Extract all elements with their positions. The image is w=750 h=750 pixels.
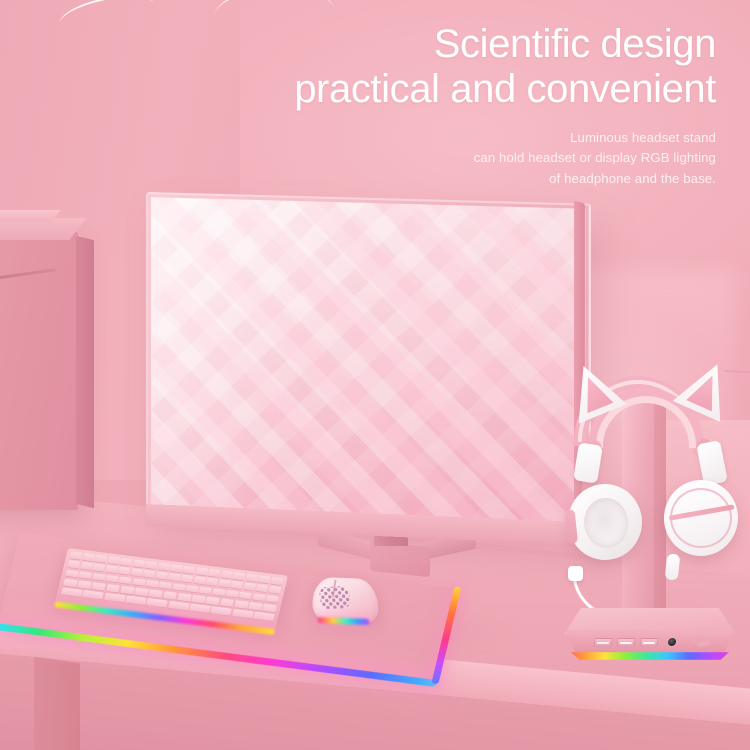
keyboard-key [145, 580, 159, 589]
keyboard-key [148, 589, 163, 598]
keyboard-key [92, 582, 107, 591]
keyboard-key [130, 568, 143, 577]
keyboard-key [80, 562, 93, 571]
keyboard-key [208, 569, 221, 578]
keyboard-key [63, 578, 78, 587]
microphone-capsule [568, 566, 583, 581]
keyboard-key [256, 584, 269, 593]
keyboard-key [212, 588, 226, 597]
keyboard-key [92, 573, 106, 582]
keyboard-key [191, 595, 206, 604]
keyboard-key [225, 590, 239, 599]
product-banner: Scientific design practical and convenie… [0, 0, 750, 750]
screen-sheen [151, 197, 585, 532]
monitor-stand-hub [370, 541, 430, 577]
keyboard-key [206, 578, 219, 587]
keyboard-key [270, 577, 283, 586]
keyboard-key [245, 574, 258, 583]
headset-stand [548, 358, 744, 658]
audio-jack-icon[interactable] [666, 637, 677, 647]
keyboard-key [243, 583, 256, 592]
keyboard-key [168, 573, 181, 582]
keyboard-key [239, 591, 253, 600]
keyboard-key [233, 572, 246, 581]
keyboard-key [172, 583, 186, 592]
cat-ear-headset [554, 358, 740, 608]
keyboard-key [105, 565, 118, 574]
keyboard-key [159, 581, 173, 590]
keyboard-key [252, 593, 266, 602]
keyboard-key [77, 580, 92, 589]
keyboard-key [265, 595, 279, 604]
keyboard-key [262, 604, 277, 613]
keyboard-key [118, 567, 131, 576]
keyboard-key [82, 553, 95, 562]
keyboard-key [205, 596, 220, 605]
keyboard-key [248, 602, 263, 611]
pc-tower-top-lip [0, 210, 61, 222]
keyboard-key [218, 579, 231, 588]
base-rgb-light-strip [562, 652, 738, 660]
base-port-cluster [593, 634, 681, 650]
keyboard-key [195, 567, 208, 576]
keyboard-key [95, 555, 108, 564]
keyboard-key [258, 575, 271, 584]
keyboard-key [199, 586, 213, 595]
keyboard-key [220, 598, 235, 607]
keyboard-key [163, 591, 178, 600]
headset-slider-left [573, 442, 603, 483]
mouse-honeycomb-vents [318, 586, 351, 610]
keyboard-key [107, 556, 120, 565]
keyboard-key [132, 559, 145, 568]
keyboard-key [185, 585, 199, 594]
keyboard-key [65, 569, 79, 578]
keyboard-key [268, 586, 281, 595]
keyboard-key [79, 571, 93, 580]
monitor-bezel [146, 192, 591, 538]
keyboard-key [157, 563, 170, 572]
gaming-mouse [311, 577, 380, 624]
usb-port[interactable] [594, 638, 613, 647]
keyboard-key [120, 558, 133, 567]
keyboard-key [220, 570, 233, 579]
usb-port[interactable] [617, 638, 636, 647]
keyboard-key [143, 570, 156, 579]
keyboard-key [155, 572, 168, 581]
keyboard-key [234, 600, 249, 609]
keyboard-key [67, 560, 80, 569]
keyboard-key [119, 576, 133, 585]
pc-tower [0, 232, 78, 510]
keyboard-key [120, 586, 135, 595]
keyboard-key [170, 564, 183, 573]
keyboard-key [105, 575, 119, 584]
keyboard-key [132, 578, 146, 587]
pc-tower-side [76, 236, 94, 508]
stand-usb-hub-base [554, 608, 744, 660]
keyboard-key [134, 587, 149, 596]
keyboard-key [106, 584, 121, 593]
keyboard-key [92, 564, 105, 573]
headset-earcup-right [660, 476, 742, 559]
base-power-cable [723, 370, 750, 406]
brand-logo-icon [694, 630, 710, 646]
headset-earcup-left [564, 480, 646, 563]
monitor [146, 192, 576, 512]
keyboard-key [70, 551, 83, 560]
keyboard-key [145, 561, 158, 570]
keyboard-key [177, 593, 192, 602]
keyboard-key [180, 575, 193, 584]
usb-port[interactable] [640, 638, 659, 647]
desk-leg [34, 657, 80, 750]
keyboard-key [231, 581, 244, 590]
keyboard-key [183, 566, 196, 575]
monitor-screen [151, 197, 585, 532]
keyboard-key [193, 576, 206, 585]
